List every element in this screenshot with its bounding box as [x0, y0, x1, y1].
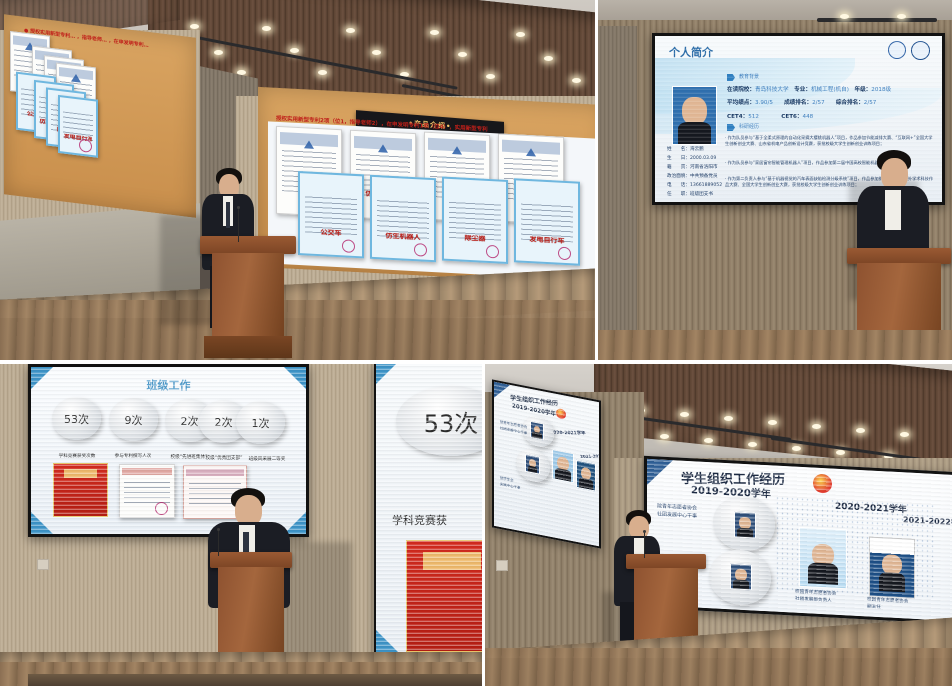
- panel-bottom-right: 学生组织工作经历 2019-2020学年 2020-2021学年 2021-20…: [484, 362, 952, 686]
- panel-top-left: ● 授权实用新型专利… ，指导老师… ，在申发明专利… 除尘器 仿生机器人 清污…: [0, 0, 597, 362]
- panel-seam-vertical-top: [595, 0, 598, 362]
- podium: [200, 236, 296, 362]
- panel-top-right: 个人简介 姓 名：海云鹏 生 日：2000.03.09 籍 贯：河南省洛阳市 政…: [597, 0, 952, 362]
- side-screen: 53次 学科竞赛获: [374, 362, 484, 656]
- photo-collage: ● 授权实用新型专利… ，指导老师… ，在申发明专利… 除尘器 仿生机器人 清污…: [0, 0, 952, 686]
- side-screen-left: 学生组织工作经历 2019-2020学年 2020-2021学年 2021-20…: [492, 379, 601, 548]
- panel-bottom-left: 班级工作 53次 9次 2次 2次 1次 学科竞赛获奖次数 参与专利撰写人次 校…: [0, 362, 484, 686]
- panel-seam-horizontal: [0, 360, 952, 364]
- panel-seam-vertical-bottom: [482, 362, 485, 686]
